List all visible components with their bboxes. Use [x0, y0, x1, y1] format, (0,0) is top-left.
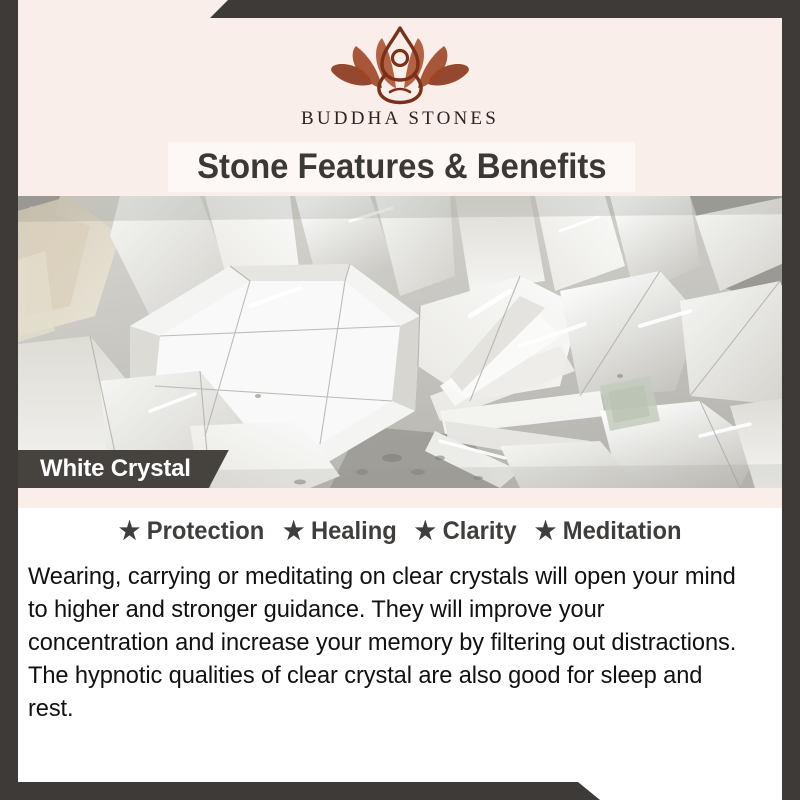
benefit-item: ★ Protection	[113, 517, 270, 546]
star-icon: ★	[414, 519, 435, 544]
brand-name: BUDDHA STONES	[0, 108, 800, 130]
infographic-card: BUDDHA STONES Stone Features & Benefits	[0, 0, 800, 800]
star-icon: ★	[283, 519, 304, 544]
benefit-label: Clarity	[442, 517, 516, 546]
star-icon: ★	[119, 519, 140, 544]
crystal-photo-illustration	[0, 196, 800, 488]
photo-caption-banner: White Crystal	[18, 450, 229, 488]
benefits-row: ★ Protection ★ Healing ★ Clarity ★ Medit…	[0, 517, 800, 546]
benefit-label: Meditation	[563, 517, 682, 546]
benefit-item: ★ Healing	[277, 517, 402, 546]
lotus-meditation-figure-icon	[312, 22, 488, 106]
brand-logo-block: BUDDHA STONES	[0, 22, 800, 130]
benefit-item: ★ Clarity	[409, 517, 522, 546]
separator-strip	[0, 488, 800, 508]
benefit-item: ★ Meditation	[529, 517, 687, 546]
benefit-label: Healing	[311, 517, 397, 546]
frame-bottom-accent	[0, 782, 800, 800]
description-paragraph: Wearing, carrying or meditating on clear…	[28, 560, 746, 725]
body-zone: ★ Protection ★ Healing ★ Clarity ★ Medit…	[0, 508, 800, 782]
star-icon: ★	[535, 519, 556, 544]
page-title: Stone Features & Benefits	[197, 147, 607, 187]
benefit-label: Protection	[147, 517, 264, 546]
photo-caption-label: White Crystal	[40, 455, 191, 483]
frame-left-accent	[0, 0, 18, 800]
title-banner: Stone Features & Benefits	[168, 142, 635, 192]
frame-right-accent	[782, 0, 800, 800]
white-crystal-cluster-photo: White Crystal	[0, 196, 800, 488]
